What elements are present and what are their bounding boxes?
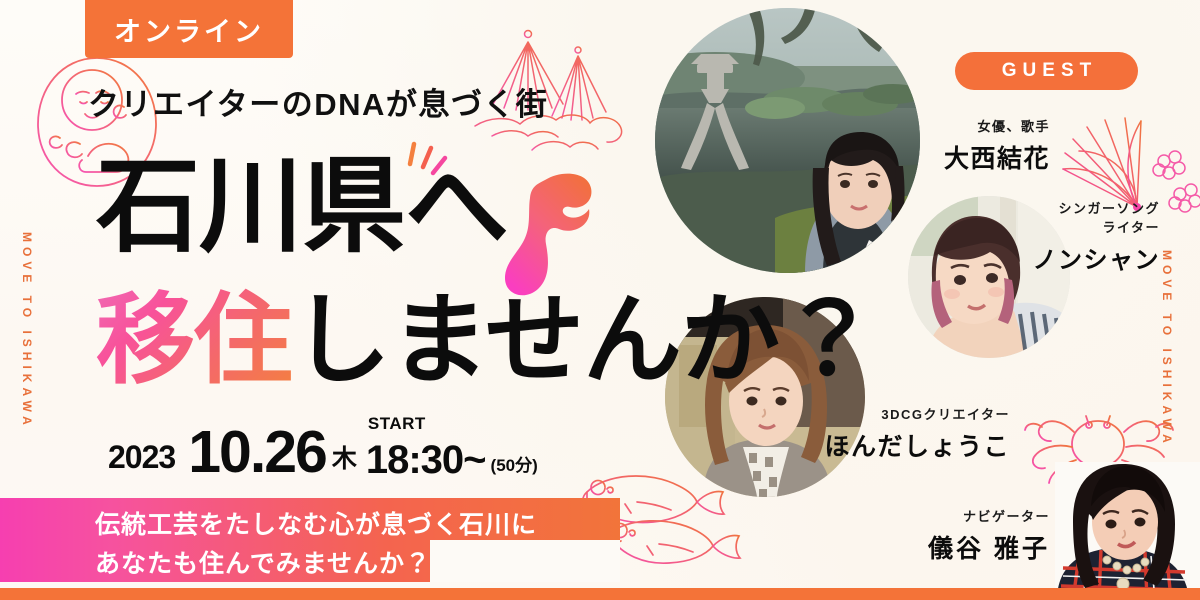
guest-name-1: 大西結花 [880, 139, 1050, 175]
guest-role-3: 3DCGクリエイター [790, 406, 1010, 425]
guest-name-3: ほんだしょうこ [790, 427, 1010, 463]
guest-name-2: ノンシャン [960, 240, 1160, 275]
guest-role-2-line-1: シンガーソング [960, 200, 1160, 219]
guest-pill-label: GUEST [996, 60, 1097, 82]
date-duration: (50分) [491, 451, 538, 480]
banner-line-1: 伝統工芸をたしなむ心が息づく石川に [95, 505, 537, 541]
side-text-right: MOVE TO ISHIKAWA [1160, 250, 1174, 448]
guest-block-1: 女優、歌手 大西結花 [880, 118, 1050, 175]
side-text-left: MOVE TO ISHIKAWA [20, 232, 34, 430]
banner-line-2: あなたも住んでみませんか？ [95, 544, 431, 580]
date-day-of-week: 木 [332, 439, 357, 480]
guest-role-1: 女優、歌手 [880, 118, 1050, 137]
headline-line-2: 移住しませんか？ [96, 290, 877, 389]
event-date-line: 2023 10.26 木 START 18:30~ (50分) [108, 424, 538, 480]
online-badge: オンライン [85, 0, 293, 58]
headline-gradient-word: 移住 [96, 284, 292, 395]
headline-subtitle: クリエイターのDNAが息づく街 [88, 79, 548, 124]
date-start-label: START [368, 414, 426, 434]
bottom-orange-bar [0, 588, 1200, 600]
guest-block-2: シンガーソング ライター ノンシャン [960, 200, 1160, 275]
banner-notch [430, 540, 620, 582]
guest-role-2-line-2: ライター [960, 219, 1160, 238]
headline-line-2-rest: しませんか？ [292, 284, 877, 395]
guest-name-4: 儀谷 雅子 [850, 529, 1050, 565]
date-start-time: 18:30~ [366, 438, 486, 482]
poster-canvas: オンライン MOVE TO ISHIKAWA MOVE TO ISHIKAWA … [0, 0, 1200, 600]
bottom-banner: 伝統工芸をたしなむ心が息づく石川に あなたも住んでみませんか？ [0, 498, 620, 582]
guest-block-4: ナビゲーター 儀谷 雅子 [850, 508, 1050, 565]
guest-block-3: 3DCGクリエイター ほんだしょうこ [790, 406, 1010, 463]
online-badge-label: オンライン [114, 10, 264, 49]
photo-gitani-masako [1055, 462, 1200, 600]
date-month-day: 10.26 [188, 424, 326, 480]
date-year: 2023 [108, 439, 175, 480]
date-start-group: START 18:30~ [366, 440, 486, 480]
guest-pill: GUEST [955, 52, 1138, 90]
headline-line-1: 石川県へ [96, 155, 508, 259]
guest-role-4: ナビゲーター [850, 508, 1050, 527]
